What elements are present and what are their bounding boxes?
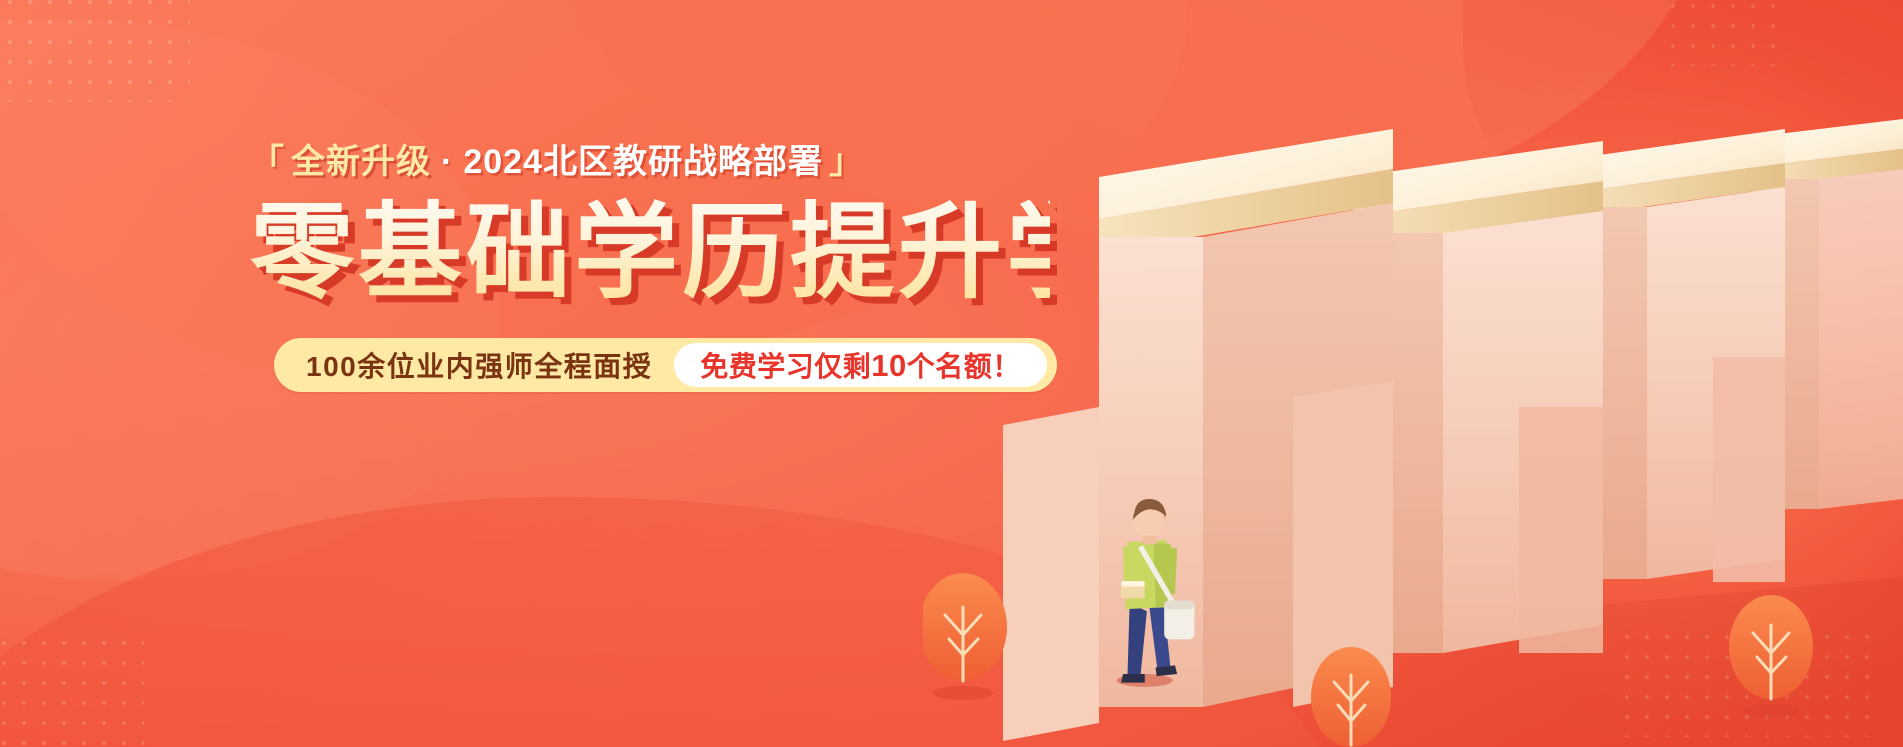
seats-badge[interactable]: 免费学习仅剩10个名额！ xyxy=(674,343,1047,387)
seats-count: 10 xyxy=(871,348,906,383)
eyebrow-text: 「 全新升级 · 2024北区教研战略部署 」 xyxy=(250,144,1050,181)
eyebrow-separator: · xyxy=(437,144,457,181)
tree-right xyxy=(1311,647,1391,747)
eyebrow-rest: 2024北区教研战略部署 xyxy=(463,144,823,181)
open-bracket-icon: 「 xyxy=(250,144,285,181)
dot-pattern-bottom-left xyxy=(0,633,144,747)
dot-pattern-top-right xyxy=(1663,0,1783,66)
dot-pattern-top-left xyxy=(0,0,190,102)
seats-prefix: 免费学习仅剩 xyxy=(700,351,871,382)
banner-copy-block: 「 全新升级 · 2024北区教研战略部署 」 零基础学历提升学霸班 100余位… xyxy=(250,144,1050,392)
eyebrow-highlight: 全新升级 xyxy=(291,144,431,181)
seats-suffix: 个名额！ xyxy=(907,351,1021,382)
offer-pill[interactable]: 100余位业内强师全程面授 免费学习仅剩10个名额！ xyxy=(274,338,1057,392)
promo-banner: 「 全新升级 · 2024北区教研战略部署 」 零基础学历提升学霸班 100余位… xyxy=(0,0,1903,747)
headline-title: 零基础学历提升学霸班 xyxy=(250,195,1050,311)
seats-badge-text: 免费学习仅剩10个名额！ xyxy=(700,345,1021,385)
close-bracket-icon: 」 xyxy=(829,144,864,181)
book-arch-3 xyxy=(1571,129,1785,582)
pill-left-label: 100余位业内强师全程面授 xyxy=(306,345,674,385)
